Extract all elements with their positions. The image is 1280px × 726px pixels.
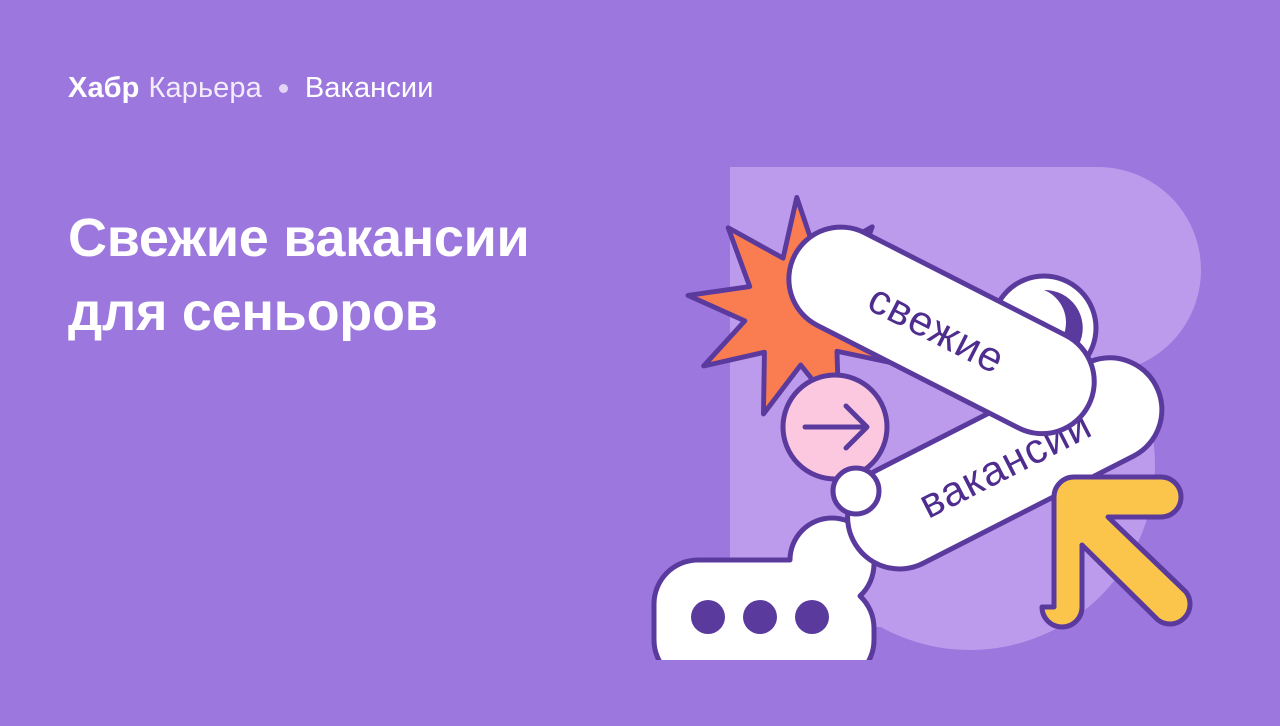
small-white-dot — [833, 468, 879, 514]
bullet-separator-icon — [279, 84, 288, 93]
page-title: Свежие вакансии для сеньоров — [68, 202, 529, 349]
page-title-line-1: Свежие вакансии — [68, 202, 529, 275]
arrow-up-left — [1042, 477, 1190, 627]
breadcrumb: Хабр Карьера Вакансии — [68, 72, 434, 105]
bubble-dot-1 — [691, 600, 725, 634]
bubble-dot-2 — [743, 600, 777, 634]
brand-name-career: Карьера — [149, 72, 262, 105]
section-label-vacancies: Вакансии — [305, 72, 434, 105]
brand-name-habr: Хабр — [68, 72, 140, 105]
arrow-right-circle — [783, 375, 887, 479]
bubble-dot-3 — [795, 600, 829, 634]
hero-illustration: вакансии свежие — [640, 120, 1240, 660]
page-title-line-2: для сеньоров — [68, 276, 529, 349]
habr-career-banner: Хабр Карьера Вакансии Свежие вакансии дл… — [0, 0, 1280, 726]
